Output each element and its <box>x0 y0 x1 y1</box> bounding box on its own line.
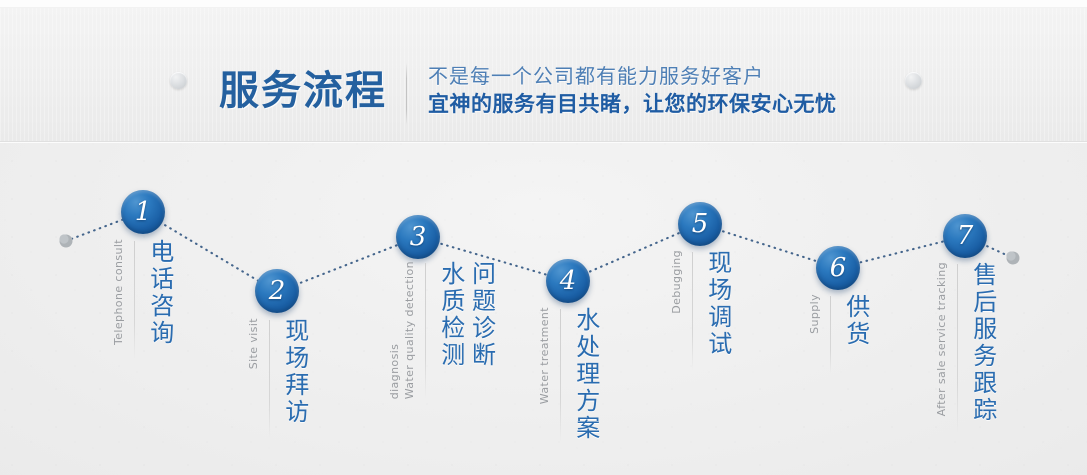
step-5-circle[interactable]: 5 <box>678 202 722 246</box>
step-3-en-1: Water quality detection <box>403 261 416 399</box>
step-3-en: Water quality detection diagnosis <box>386 261 416 399</box>
step-1-en: Telephone consult <box>110 239 125 345</box>
step-2-en-1: Site visit <box>247 318 260 369</box>
step-6-circle[interactable]: 6 <box>816 246 860 290</box>
step-6-divider <box>830 296 831 374</box>
page-title: 服务流程 <box>219 58 387 116</box>
step-2-cn-1: 现场拜访 <box>279 318 310 426</box>
page-root: 服务流程 不是每一个公司都有能力服务好客户 宜神的服务有目共睹，让您的环保安心无… <box>0 0 1087 475</box>
step-3-divider <box>425 263 426 399</box>
step-1-en-1: Telephone consult <box>112 239 125 345</box>
step-3-labels: 问题诊断 水质检测 Water quality detection diagno… <box>386 261 496 399</box>
step-7-labels: 售后服务跟踪 After sale service tracking <box>933 262 998 434</box>
step-7-cn-1: 售后服务跟踪 <box>967 262 998 424</box>
step-3-cn-1: 问题诊断 <box>466 261 497 369</box>
step-2-circle[interactable]: 2 <box>255 269 299 313</box>
header-banner: 服务流程 不是每一个公司都有能力服务好客户 宜神的服务有目共睹，让您的环保安心无… <box>0 8 1087 142</box>
step-4-circle[interactable]: 4 <box>546 259 590 303</box>
step-3-en-2: diagnosis <box>388 261 401 399</box>
step-2-number: 2 <box>269 278 286 304</box>
title-divider <box>406 63 407 125</box>
step-4-en-1: Water treatment <box>538 307 551 404</box>
step-1-labels: 电话咨询 Telephone consult <box>110 239 175 359</box>
step-1-number: 1 <box>135 199 152 225</box>
step-7-number: 7 <box>957 223 974 249</box>
step-7-circle[interactable]: 7 <box>943 214 987 258</box>
header-subtitle: 不是每一个公司都有能力服务好客户 宜神的服务有目共睹，让您的环保安心无忧 <box>428 63 837 119</box>
step-3-cn-2: 水质检测 <box>435 261 466 369</box>
step-1-divider <box>134 241 135 359</box>
subtitle-line-1: 不是每一个公司都有能力服务好客户 <box>428 63 837 89</box>
step-6-labels: 供货 Supply <box>806 294 871 374</box>
decorative-dot-right <box>905 72 922 89</box>
step-5-labels: 现场调试 Debugging <box>668 250 733 370</box>
step-3-number: 3 <box>410 224 427 250</box>
service-flow-diagram: 1 电话咨询 Telephone consult 2 现场拜访 Site vis… <box>0 141 1087 475</box>
step-1-circle[interactable]: 1 <box>121 190 165 234</box>
decorative-dot-left <box>170 72 187 89</box>
step-4-labels: 水处理方案 Water treatment <box>536 307 601 442</box>
step-5-number: 5 <box>692 211 709 237</box>
step-6-cn-1: 供货 <box>840 294 871 348</box>
subtitle-line-2: 宜神的服务有目共睹，让您的环保安心无忧 <box>428 89 837 119</box>
step-5-cn-1: 现场调试 <box>702 250 733 358</box>
step-1-cn-1: 电话咨询 <box>144 239 175 347</box>
step-4-number: 4 <box>560 268 577 294</box>
path-endpoint-right-highlight <box>1006 251 1015 260</box>
step-4-cn-1: 水处理方案 <box>570 307 601 442</box>
top-strip <box>0 0 1087 8</box>
step-5-en-1: Debugging <box>670 250 683 314</box>
step-4-divider <box>560 309 561 442</box>
step-6-en-1: Supply <box>808 294 821 334</box>
flow-dotted-path <box>66 212 1013 292</box>
step-5-divider <box>692 252 693 370</box>
step-2-labels: 现场拜访 Site visit <box>245 318 310 438</box>
step-6-number: 6 <box>830 255 847 281</box>
step-2-divider <box>269 320 270 438</box>
step-6-en: Supply <box>806 294 821 334</box>
step-4-en: Water treatment <box>536 307 551 404</box>
step-7-en: After sale service tracking <box>933 262 948 416</box>
step-3-circle[interactable]: 3 <box>396 215 440 259</box>
step-5-en: Debugging <box>668 250 683 314</box>
path-endpoint-left-highlight <box>59 234 68 243</box>
step-7-divider <box>957 264 958 434</box>
step-7-en-1: After sale service tracking <box>935 262 948 416</box>
step-2-en: Site visit <box>245 318 260 369</box>
